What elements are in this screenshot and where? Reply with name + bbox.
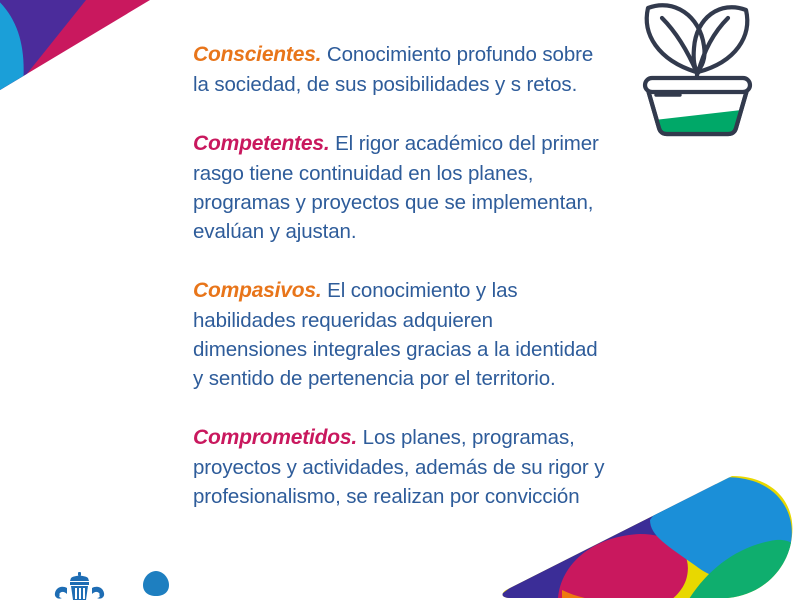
trait-list: Conscientes. Conocimiento profundo sobre… bbox=[193, 40, 608, 511]
corner-band-magenta bbox=[0, 0, 150, 90]
lozenge-segment-blue bbox=[650, 477, 792, 581]
corner-band-cyan-2 bbox=[0, 0, 30, 90]
corner-band-cyan bbox=[0, 0, 24, 90]
corner-band-purple bbox=[0, 0, 110, 90]
university-crest-logo bbox=[52, 569, 108, 603]
potted-plant-icon bbox=[618, 0, 778, 137]
crest-flourish-right bbox=[92, 587, 104, 599]
trait-item: Comprometidos. Los planes, programas, pr… bbox=[193, 423, 608, 511]
crest-dot-right bbox=[99, 593, 102, 596]
blue-mark-shape bbox=[143, 571, 169, 596]
trait-title: Conscientes. bbox=[193, 43, 321, 66]
crest-dot-left bbox=[56, 593, 59, 596]
crest-crown bbox=[70, 576, 89, 581]
trait-item: Compasivos. El conocimiento y las habili… bbox=[193, 276, 608, 393]
pot-rim bbox=[645, 78, 750, 92]
trait-title: Competentes. bbox=[193, 132, 329, 155]
crest-stripe-3 bbox=[83, 588, 85, 599]
crest-stripe-1 bbox=[75, 588, 77, 599]
trait-item: Competentes. El rigor académico del prim… bbox=[193, 129, 608, 246]
lozenge-segment-orange bbox=[562, 590, 650, 600]
blue-rounded-mark bbox=[141, 569, 171, 597]
top-left-corner-decoration bbox=[0, 0, 150, 90]
crest-flourish-left bbox=[55, 587, 67, 599]
trait-item: Conscientes. Conocimiento profundo sobre… bbox=[193, 40, 608, 99]
crest-finial bbox=[78, 572, 81, 576]
trait-title: Comprometidos. bbox=[193, 426, 357, 449]
trait-title: Compasivos. bbox=[193, 279, 322, 302]
crest-band bbox=[70, 582, 89, 585]
lozenge-segment-green bbox=[678, 540, 800, 600]
lozenge-segment-magenta bbox=[558, 534, 688, 600]
crest-stripe-2 bbox=[79, 588, 81, 599]
